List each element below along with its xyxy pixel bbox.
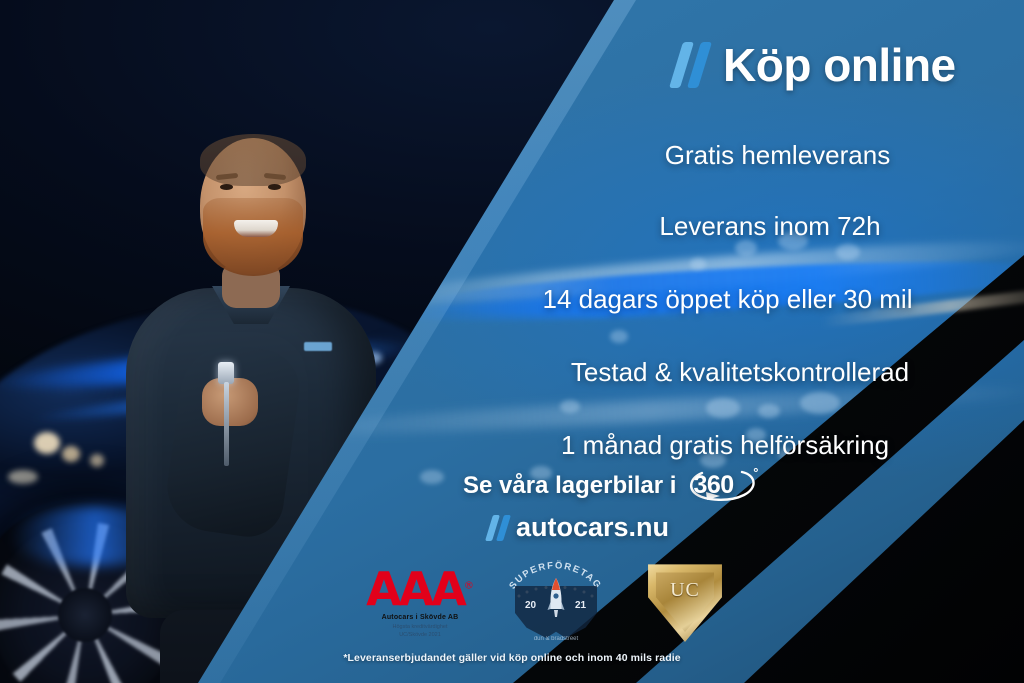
superforetag-source: dun & bradstreet bbox=[515, 636, 597, 642]
superforetag-year-right: 21 bbox=[575, 600, 586, 611]
cta-line-2[interactable]: autocars.nu bbox=[489, 512, 760, 543]
aaa-note-line-2: UC/Skövde 2021 bbox=[355, 631, 485, 639]
uc-badge: UC bbox=[643, 562, 727, 642]
rocket-icon bbox=[547, 576, 565, 624]
aaa-credit-badge: AAA® Autocars i Skövde AB Högsta kreditv… bbox=[355, 566, 485, 640]
slash-logo-icon bbox=[676, 42, 705, 88]
aaa-note-line-1: Högsta kreditvärdighet bbox=[355, 623, 485, 631]
cta-text: Se våra lagerbilar i bbox=[463, 472, 676, 500]
benefit-item: Testad & kvalitetskontrollerad bbox=[480, 357, 1000, 388]
slash-logo-small-icon bbox=[489, 515, 507, 541]
aaa-mark: AAA® bbox=[355, 566, 485, 612]
page-title: Köp online bbox=[723, 42, 956, 88]
benefit-item: Gratis hemleverans bbox=[555, 140, 1000, 171]
website-link[interactable]: autocars.nu bbox=[516, 512, 669, 543]
aaa-note: Högsta kreditvärdighet UC/Skövde 2021 bbox=[355, 623, 485, 640]
certification-badges: AAA® Autocars i Skövde AB Högsta kreditv… bbox=[355, 556, 755, 648]
superforetag-year-left: 20 bbox=[525, 600, 536, 611]
benefit-item: 14 dagars öppet köp eller 30 mil bbox=[455, 284, 1000, 315]
cta-line-1: Se våra lagerbilar i 360 ° bbox=[463, 466, 760, 506]
registered-trademark-icon: ® bbox=[464, 581, 474, 592]
content-layer: Köp online Gratis hemleverans Leverans i… bbox=[0, 0, 1024, 683]
benefit-item: Leverans inom 72h bbox=[540, 211, 1000, 242]
promo-banner: Köp online Gratis hemleverans Leverans i… bbox=[0, 0, 1024, 683]
threesixty-number: 360 bbox=[693, 471, 733, 500]
disclaimer-text: *Leveranserbjudandet gäller vid köp onli… bbox=[0, 652, 1024, 664]
benefit-item: 1 månad gratis helförsäkring bbox=[450, 430, 1000, 461]
aaa-letters: AAA bbox=[366, 562, 464, 616]
superforetag-badge: SUPERFÖRETAG 20 21 bbox=[503, 556, 608, 646]
cta-block[interactable]: Se våra lagerbilar i 360 ° autocars.nu bbox=[463, 466, 760, 543]
headline-block: Köp online bbox=[676, 42, 956, 88]
threesixty-badge-icon: 360 ° bbox=[686, 466, 760, 506]
degree-symbol: ° bbox=[753, 465, 758, 480]
benefits-list: Gratis hemleverans Leverans inom 72h 14 … bbox=[455, 140, 1000, 461]
uc-label: UC bbox=[643, 579, 727, 602]
